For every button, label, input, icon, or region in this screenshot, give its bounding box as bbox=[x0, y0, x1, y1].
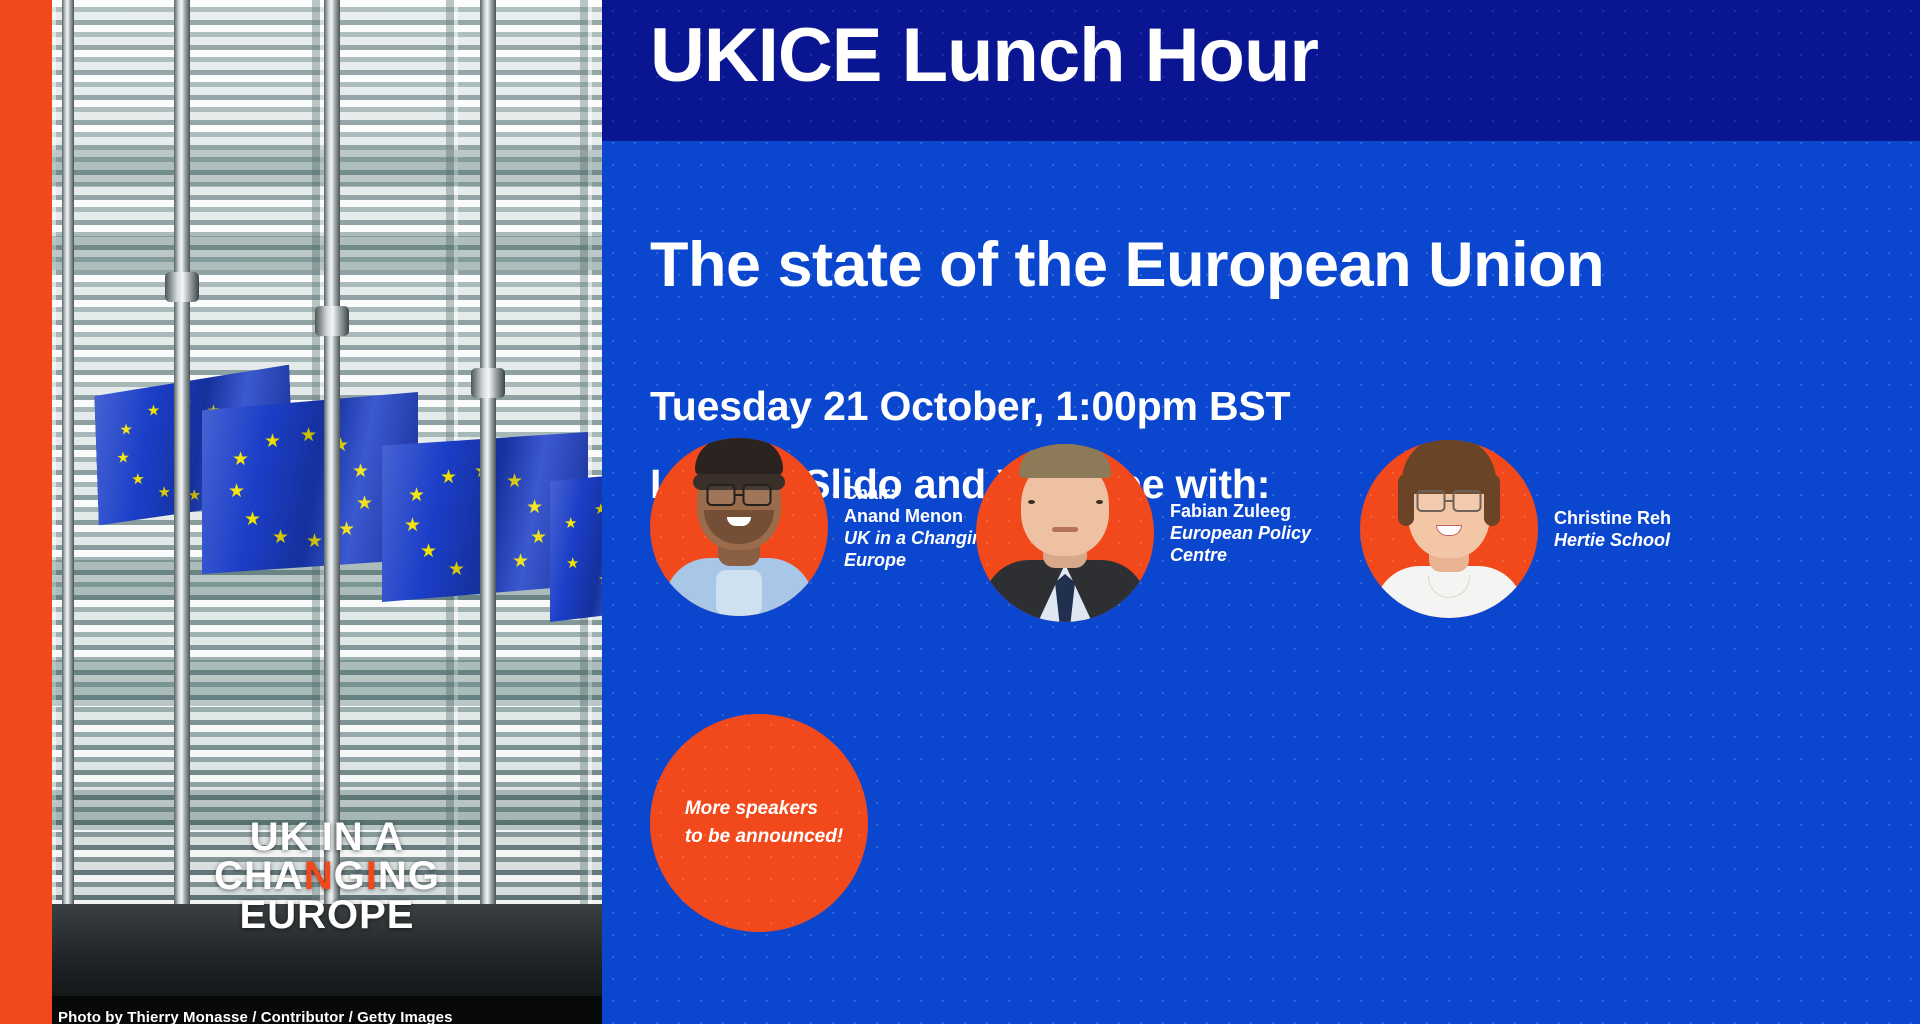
event-datetime: Tuesday 21 October, 1:00pm BST bbox=[650, 386, 1290, 427]
logo-line-2: CHANGING bbox=[52, 857, 602, 896]
more-speakers-text: More speakers to be announced! bbox=[675, 795, 843, 850]
orange-accent-stripe bbox=[0, 0, 52, 1024]
more-speakers-badge: More speakers to be announced! bbox=[650, 714, 868, 932]
logo-ng: NG bbox=[378, 854, 440, 898]
glasses-icon bbox=[707, 484, 772, 506]
photo-credit: Photo by Thierry Monasse / Contributor /… bbox=[58, 1009, 453, 1024]
speaker-name: Anand Menon bbox=[844, 505, 994, 527]
speaker-info: Fabian Zuleeg European Policy Centre bbox=[1170, 500, 1311, 567]
speaker-role: Chair: bbox=[844, 482, 994, 504]
speaker-card-fabian-zuleeg: Fabian Zuleeg European Policy Centre bbox=[976, 444, 1311, 622]
more-speakers-line-1: More speakers bbox=[685, 795, 843, 823]
speaker-name: Fabian Zuleeg bbox=[1170, 500, 1311, 522]
logo-line-1: UK IN A bbox=[52, 818, 602, 857]
avatar bbox=[976, 444, 1154, 622]
speaker-org-line-2: Europe bbox=[844, 549, 994, 571]
event-promo-poster: ★ ★ ★ ★ ★ ★ ★ ★ ★ ★ ★ ★ ★ ★ ★ ★ ★ ★ ★ bbox=[0, 0, 1920, 1024]
fabian-zuleeg-portrait bbox=[976, 444, 1154, 622]
speaker-org-line-1: UK in a Changing bbox=[844, 527, 994, 549]
logo-i-highlight: I bbox=[366, 854, 378, 898]
eu-flag: ★ ★ ★ ★ ★ ★ bbox=[550, 472, 602, 622]
logo-g: G bbox=[334, 854, 366, 898]
speaker-info: Chair: Anand Menon UK in a Changing Euro… bbox=[844, 482, 994, 571]
avatar bbox=[650, 438, 828, 616]
pole-cap bbox=[315, 306, 349, 336]
speaker-org-line-1: Hertie School bbox=[1554, 529, 1671, 551]
christine-reh-portrait bbox=[1360, 440, 1538, 618]
content-panel: UKICE Lunch Hour The state of the Europe… bbox=[602, 0, 1920, 1024]
logo-cha: CHA bbox=[214, 854, 304, 898]
series-title: UKICE Lunch Hour bbox=[650, 18, 1318, 94]
photo-column: ★ ★ ★ ★ ★ ★ ★ ★ ★ ★ ★ ★ ★ ★ ★ ★ ★ ★ ★ bbox=[0, 0, 602, 1024]
speaker-name: Christine Reh bbox=[1554, 507, 1671, 529]
avatar bbox=[1360, 440, 1538, 618]
logo-n-highlight: N bbox=[304, 854, 334, 898]
speaker-org-line-2: Centre bbox=[1170, 544, 1311, 566]
pole-cap bbox=[471, 368, 505, 398]
anand-menon-portrait bbox=[650, 438, 828, 616]
uk-in-a-changing-europe-logo: UK IN A CHANGING EUROPE bbox=[52, 818, 602, 936]
speaker-card-christine-reh: Christine Reh Hertie School bbox=[1360, 440, 1671, 618]
speaker-card-anand-menon: Chair: Anand Menon UK in a Changing Euro… bbox=[650, 438, 994, 616]
pole-cap bbox=[165, 272, 199, 302]
speaker-info: Christine Reh Hertie School bbox=[1554, 507, 1671, 552]
glasses-icon bbox=[1417, 490, 1482, 512]
more-speakers-line-2: to be announced! bbox=[685, 823, 843, 851]
logo-line-3: EUROPE bbox=[52, 896, 602, 935]
page-title: The state of the European Union bbox=[650, 234, 1604, 297]
speaker-org-line-1: European Policy bbox=[1170, 522, 1311, 544]
